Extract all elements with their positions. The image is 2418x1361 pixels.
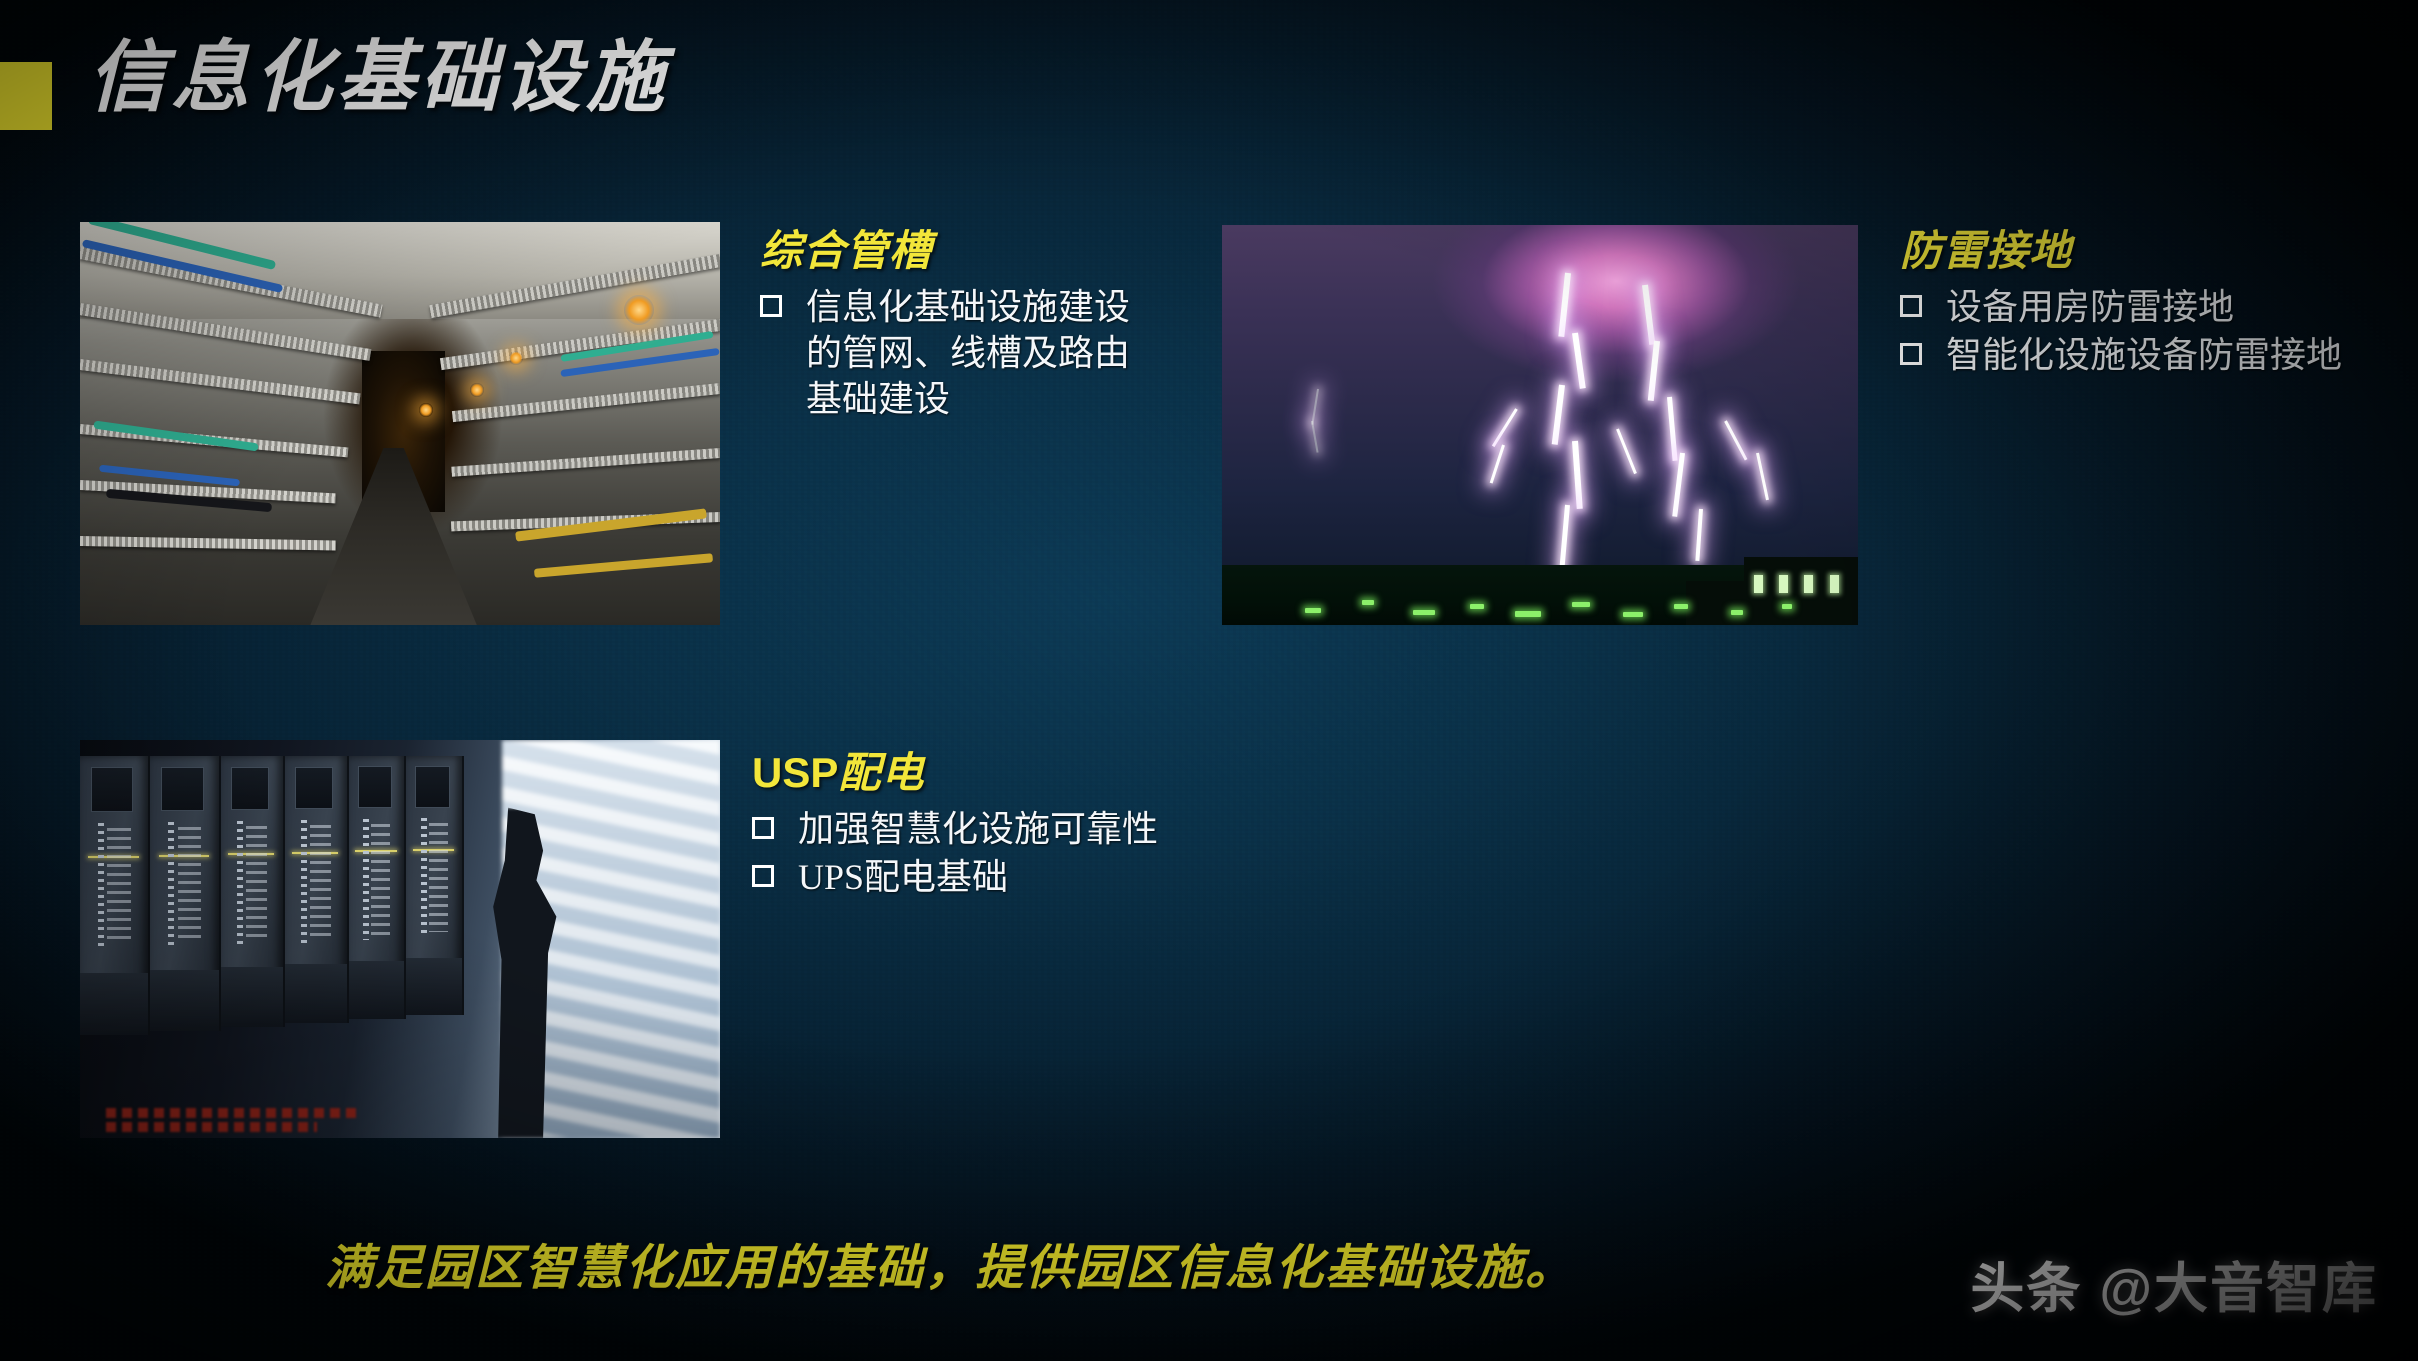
city-light [1413,610,1435,615]
city-light [1515,611,1541,617]
city-light [1782,604,1792,609]
led-column [168,822,174,948]
building-window [1830,575,1839,593]
slide-canvas: 信息化基础设施 [0,0,2418,1361]
list-item: 加强智慧化设施可靠性 [752,806,1222,852]
ups-cabinet [221,756,285,1027]
city-light [1623,612,1643,617]
label-column [178,827,201,942]
ups-cabinet [349,756,407,1019]
image-lightning-grounding [1222,225,1858,625]
building-window [1754,575,1763,593]
bullet-text: 信息化基础设施建设的管网、线槽及路由基础建设 [806,284,1146,422]
cabinet-base [406,958,462,1015]
ups-cabinet [80,756,150,1035]
ups-cabinet [150,756,220,1031]
building-window [1779,575,1788,593]
cabinet-base [285,964,347,1023]
building-window [1804,575,1813,593]
text-block-ups-power: USP配电 加强智慧化设施可靠性 UPS配电基础 [752,748,1222,902]
bullet-list-lightning: 设备用房防雷接地 智能化设施设备防雷接地 [1900,284,2418,378]
list-item: 智能化设施设备防雷接地 [1900,332,2418,378]
text-block-lightning-grounding: 防雷接地 设备用房防雷接地 智能化设施设备防雷接地 [1900,228,2418,380]
label-column [107,828,130,945]
cabinet-display [358,766,392,808]
led-column [301,820,307,943]
label-column [246,826,267,940]
watermark-label: 头条 @大音智库 [1970,1244,2378,1323]
tunnel-lamp [509,351,523,365]
city-light [1731,610,1743,615]
text-block-comprehensive-trays: 综合管槽 信息化基础设施建设的管网、线槽及路由基础建设 [760,228,1190,424]
block-heading-lightning: 防雷接地 [1900,228,2418,278]
square-bullet-icon [1900,295,1922,317]
block-heading-ups: USP配电 [752,748,1222,800]
cabinet-display [231,767,269,810]
block-heading-ups-cjk: 配电 [838,751,924,797]
vignette-overlay [0,0,2418,1361]
image-comprehensive-trays [80,222,720,625]
tunnel-lamp [624,295,654,325]
bullet-text: 加强智慧化设施可靠性 [798,806,1158,852]
label-column [429,823,448,932]
led-column [98,823,104,951]
cabinet-display [161,767,203,811]
slide-header: 信息化基础设施 [0,0,2418,178]
square-bullet-icon [1900,343,1922,365]
building [1686,581,1743,625]
bullet-list-trays: 信息化基础设施建设的管网、线槽及路由基础建设 [760,284,1190,422]
bullet-text: 智能化设施设备防雷接地 [1946,332,2342,378]
summary-caption: 满足园区智慧化应用的基础，提供园区信息化基础设施。 [0,1228,1900,1298]
city-light [1674,604,1688,609]
cabinet-base [150,970,218,1030]
bullet-text: 设备用房防雷接地 [1946,284,2234,330]
city-light [1572,602,1590,607]
title-accent-marker [0,62,52,130]
cabinet-base [349,961,405,1019]
label-column [371,824,390,934]
led-column [363,819,369,940]
ups-cabinet [406,756,464,1015]
block-heading-ups-latin: USP [752,749,838,796]
cabinet-display [415,766,449,807]
cabinet-base [221,967,283,1027]
list-item: UPS配电基础 [752,854,1222,900]
red-status-text [106,1122,317,1132]
label-column [310,825,331,937]
page-title: 信息化基础设施 [88,30,669,125]
ups-cabinet [285,756,349,1023]
block-heading-trays: 综合管槽 [760,228,1190,278]
led-column [421,818,427,937]
image-ups-power [80,740,720,1138]
background-texture [0,0,2418,1361]
square-bullet-icon [752,817,774,839]
city-light [1470,604,1484,609]
list-item: 设备用房防雷接地 [1900,284,2418,330]
square-bullet-icon [752,865,774,887]
city-light [1362,600,1374,605]
list-item: 信息化基础设施建设的管网、线槽及路由基础建设 [760,284,1190,422]
cabinet-base [80,973,148,1034]
square-bullet-icon [760,295,782,317]
city-light [1305,608,1321,613]
led-column [237,821,243,945]
bullet-list-ups: 加强智慧化设施可靠性 UPS配电基础 [752,806,1222,900]
red-status-text [106,1108,362,1118]
bullet-text: UPS配电基础 [798,854,1008,900]
cabinet-display [91,767,133,812]
cabinet-display [295,767,333,810]
